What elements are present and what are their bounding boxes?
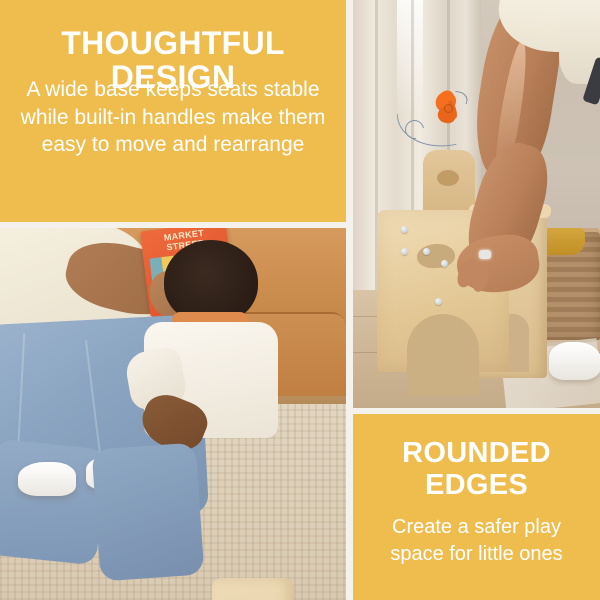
step-stool-product — [108, 560, 320, 600]
stool-upper-handle-cutout — [437, 170, 459, 186]
stool-rear-side-panel — [212, 578, 294, 600]
screw-cap — [435, 298, 442, 305]
screw-cap — [401, 248, 408, 255]
stool-handle-cutout — [416, 243, 456, 270]
marketing-image-canvas: THOUGHTFUL DESIGN A wide base keeps seat… — [0, 0, 600, 600]
rounded-edges-body: Create a safer play space for little one… — [367, 514, 586, 568]
white-shoe — [549, 342, 600, 380]
child-seated-on-stool-photo: MARKET STREET — [0, 228, 346, 600]
curtain-highlight — [397, 0, 423, 118]
rounded-edges-text-panel: ROUNDED EDGES Create a safer play space … — [353, 414, 600, 600]
thoughtful-design-body: A wide base keeps seats stable while bui… — [16, 76, 330, 159]
adult-lower-leg — [0, 438, 108, 565]
screw-cap — [441, 260, 448, 267]
stool-front-arch-cutout — [407, 314, 479, 396]
butterfly-wing-dot — [444, 104, 453, 113]
ring — [479, 250, 491, 259]
thoughtful-design-text-panel: THOUGHTFUL DESIGN A wide base keeps seat… — [0, 0, 346, 222]
rounded-edges-headline: ROUNDED EDGES — [353, 437, 600, 501]
screw-cap — [401, 226, 408, 233]
child — [120, 328, 288, 538]
screw-cap — [423, 248, 430, 255]
adult-sneaker — [18, 462, 76, 496]
hand-lifting-stool-photo — [353, 0, 600, 408]
